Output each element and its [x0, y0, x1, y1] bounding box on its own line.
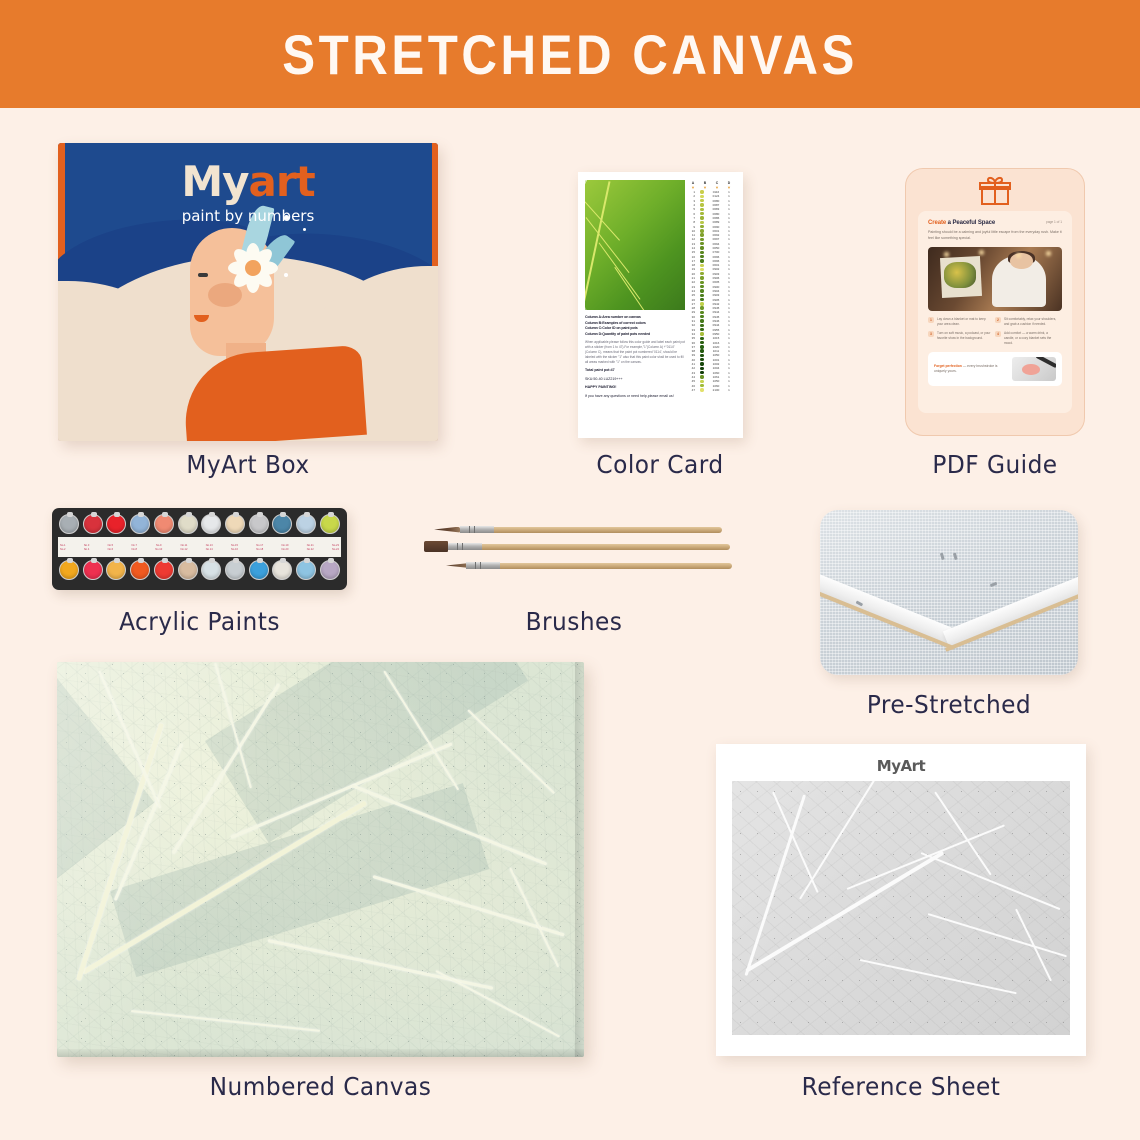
canvas-sheen [57, 662, 584, 1057]
pdf-footer-card: Forget perfection — every brushstroke is… [928, 352, 1062, 386]
paint-label: No.17 [256, 544, 263, 547]
caption-brushes: Brushes [435, 607, 714, 636]
product-acrylic-paints: No.1No.2No.3No.4No.5No.6No.7No.8No.9No.1… [52, 508, 347, 590]
paint-pot [178, 560, 198, 580]
color-card-happy: HAPPY PAINTING! [585, 385, 685, 391]
cell-color-swatch [697, 319, 707, 322]
paint-label: No.8 [131, 548, 136, 551]
canvas-bottom-edge [57, 1049, 584, 1057]
color-card-row: 4721001 [687, 388, 735, 392]
cell-color-swatch [697, 337, 707, 340]
cell-color-swatch [697, 380, 707, 383]
paint-pot [130, 560, 150, 580]
caption-reference-sheet: Reference Sheet [729, 1072, 1073, 1101]
paint-label-pair: No.15No.16 [231, 544, 238, 551]
tip-text: Lay down a blanket or mat to keep your a… [937, 317, 992, 327]
pdf-guide-image: page 1 of 1 Create a Peaceful Space Pain… [905, 168, 1085, 436]
logo-my-text: My [181, 157, 248, 206]
paint-pot [59, 514, 79, 534]
paint-label-pair: No.23No.24 [332, 544, 339, 551]
cell-quantity: 1 [725, 388, 733, 392]
brush-small-flat [446, 562, 732, 569]
myart-box-image: Myart paint by numbers [58, 143, 438, 441]
cell-color-swatch [697, 324, 707, 327]
logo-tagline: paint by numbers [58, 207, 438, 225]
paint-label-pair: No.9No.10 [155, 544, 162, 551]
paint-label: No.18 [256, 548, 263, 551]
paint-label: No.7 [131, 544, 136, 547]
caption-pdf-guide: PDF Guide [883, 450, 1106, 479]
tip-number: 1 [928, 317, 934, 323]
canvas-right-edge [575, 662, 584, 1057]
cell-color-id: 2100 [707, 388, 725, 392]
paint-pot [83, 560, 103, 580]
pdf-footer-text: Forget perfection — every brushstroke is… [934, 364, 1006, 375]
paint-label: No.20 [282, 548, 289, 551]
brush-handle [482, 544, 730, 550]
pdf-heading-accent: Create [928, 220, 946, 226]
cell-color-swatch [697, 345, 707, 348]
product-pdf-guide: page 1 of 1 Create a Peaceful Space Pain… [905, 168, 1085, 436]
paint-label-pair: No.3No.4 [84, 544, 89, 551]
cell-color-swatch [697, 315, 707, 318]
brush-handle [500, 563, 732, 569]
tip-number: 4 [995, 331, 1001, 337]
cell-color-swatch [697, 203, 707, 206]
pdf-heading-rest: a Peaceful Space [946, 220, 995, 226]
paint-pot-row-top [57, 514, 342, 534]
tip-text: Turn on soft music, a podcast, or your f… [937, 331, 992, 346]
product-myart-box: Myart paint by numbers [58, 143, 438, 441]
caption-acrylic-paints: Acrylic Paints [62, 607, 336, 636]
pdf-photo-woman-painting [928, 247, 1062, 311]
paint-label: No.9 [156, 544, 161, 547]
color-card-sku: SKU:50-40 LUZ219+++ [585, 377, 685, 383]
page-title: STRETCHED CANVAS [282, 22, 858, 87]
paint-tray: No.1No.2No.3No.4No.5No.6No.7No.8No.9No.1… [52, 508, 347, 590]
reference-speckles [732, 781, 1070, 1035]
reference-sheet-logo: MyArt [732, 757, 1070, 775]
cell-color-swatch [697, 242, 707, 245]
cell-color-swatch [697, 221, 707, 224]
pdf-tips-list: 1Lay down a blanket or mat to keep your … [928, 317, 1062, 351]
product-pre-stretched [820, 510, 1078, 675]
tip-text: Sit comfortably, relax your shoulders, a… [1004, 317, 1059, 327]
tip-text: Add comfort — a warm drink, a candle, or… [1004, 331, 1059, 346]
brush-tip-small [446, 563, 466, 568]
caption-pre-stretched: Pre-Stretched [829, 690, 1069, 719]
cell-color-swatch [697, 255, 707, 258]
pdf-tip-item: 2Sit comfortably, relax your shoulders, … [995, 317, 1062, 327]
page-header: STRETCHED CANVAS [0, 0, 1140, 108]
pdf-tip-item: 4Add comfort — a warm drink, a candle, o… [995, 331, 1062, 346]
cell-color-swatch [697, 375, 707, 378]
paint-pot [272, 560, 292, 580]
paint-pot [249, 514, 269, 534]
paint-label: No.16 [231, 548, 238, 551]
paint-pot [296, 514, 316, 534]
cell-color-swatch [697, 285, 707, 288]
paint-label: No.5 [108, 544, 113, 547]
color-card-legend: Column A:Area number on canvas Column B:… [585, 315, 685, 399]
product-color-card: Column A:Area number on canvas Column B:… [578, 172, 743, 438]
paint-pot [130, 514, 150, 534]
brush-ferrule [460, 526, 494, 532]
cell-color-swatch [697, 225, 707, 228]
paint-label: No.23 [332, 544, 339, 547]
color-card-image: Column A:Area number on canvas Column B:… [578, 172, 743, 438]
caption-numbered-canvas: Numbered Canvas [75, 1072, 565, 1101]
cell-color-swatch [697, 302, 707, 305]
paint-label-pair: No.17No.18 [256, 544, 263, 551]
cell-color-swatch [697, 195, 707, 198]
cell-color-swatch [697, 384, 707, 387]
cell-color-swatch [697, 199, 707, 202]
cell-color-swatch [697, 246, 707, 249]
eye [198, 273, 208, 277]
daisy-flower [226, 241, 280, 295]
brush-round [434, 526, 722, 533]
gift-icon [906, 175, 1084, 210]
paint-label: No.14 [206, 548, 213, 551]
paint-pot [106, 514, 126, 534]
brush-tip-flat [424, 541, 448, 552]
sparkle-dot [284, 273, 288, 277]
paint-label: No.19 [282, 544, 289, 547]
paint-label: No.24 [332, 548, 339, 551]
color-card-body-text: When applicable,please follow this color… [585, 340, 685, 365]
cell-color-swatch [697, 272, 707, 275]
paint-label: No.15 [231, 544, 238, 547]
cell-color-swatch [697, 367, 707, 370]
pdf-guide-page: page 1 of 1 Create a Peaceful Space Pain… [918, 211, 1072, 413]
paint-label-pair: No.5No.6 [108, 544, 113, 551]
paint-pot [320, 560, 340, 580]
tip-number: 2 [995, 317, 1001, 323]
cell-color-swatch [697, 354, 707, 357]
cell-color-swatch [697, 229, 707, 232]
paint-label: No.4 [84, 548, 89, 551]
paint-label: No.12 [181, 548, 188, 551]
product-reference-sheet: MyArt [716, 744, 1086, 1056]
paint-pot [249, 560, 269, 580]
cell-color-swatch [697, 332, 707, 335]
paint-label: No.3 [84, 544, 89, 547]
color-card-total: Total paint pot:47 [585, 368, 685, 374]
color-card-contact: If you have any questions or need help,p… [585, 394, 685, 400]
pre-stretched-image [820, 510, 1078, 675]
paint-label-pair: No.11No.12 [181, 544, 188, 551]
cell-color-swatch [697, 238, 707, 241]
paint-pot [59, 560, 79, 580]
caption-myart-box: MyArt Box [71, 450, 424, 479]
paint-label-pair: No.21No.22 [307, 544, 314, 551]
logo-art-text: art [249, 157, 315, 206]
cell-color-swatch [697, 358, 707, 361]
pdf-tip-item: 1Lay down a blanket or mat to keep your … [928, 317, 995, 327]
paint-pot [320, 514, 340, 534]
product-brushes [424, 524, 724, 586]
cell-color-swatch [697, 294, 707, 297]
cell-color-swatch [697, 208, 707, 211]
paint-label: No.21 [307, 544, 314, 547]
brush-ferrule [466, 562, 500, 568]
paint-pot [106, 560, 126, 580]
brush-flat [424, 543, 730, 550]
cell-color-swatch [697, 362, 707, 365]
paint-pot [201, 560, 221, 580]
paint-pot [178, 514, 198, 534]
paint-label: No.22 [307, 548, 314, 551]
pdf-tip-item: 3Turn on soft music, a podcast, or your … [928, 331, 995, 346]
reference-sheet-image: MyArt [716, 744, 1086, 1056]
pdf-heading: Create a Peaceful Space [928, 220, 1062, 226]
paint-pot-row-bottom [57, 560, 342, 580]
cell-color-swatch [697, 264, 707, 267]
paint-label-pair: No.1No.2 [60, 544, 65, 551]
paint-label-pair: No.7No.8 [131, 544, 136, 551]
numbered-canvas-image [57, 662, 584, 1057]
cell-color-swatch [697, 311, 707, 314]
reference-leaf-image [732, 781, 1070, 1035]
cell-color-swatch [697, 268, 707, 271]
cell-color-swatch [697, 233, 707, 236]
myart-logo: Myart paint by numbers [58, 157, 438, 225]
paint-pot [154, 560, 174, 580]
cell-color-swatch [697, 251, 707, 254]
brush-handle [494, 527, 722, 533]
pdf-footer-photo [1012, 357, 1056, 381]
paint-pot [225, 560, 245, 580]
cell-color-swatch [697, 388, 707, 391]
paint-label-pair: No.13No.14 [206, 544, 213, 551]
cell-color-swatch [697, 281, 707, 284]
paint-label: No.10 [155, 548, 162, 551]
brush-ferrule [448, 543, 482, 549]
cell-color-swatch [697, 298, 707, 301]
pdf-page-label: page 1 of 1 [1046, 220, 1062, 224]
cell-color-swatch [697, 349, 707, 352]
legend-line: Column D:Quantity of paint pots needed [585, 332, 685, 338]
pdf-body-text: Painting should be a calming and joyful … [928, 230, 1062, 242]
paint-pot [296, 560, 316, 580]
paint-label-strip: No.1No.2No.3No.4No.5No.6No.7No.8No.9No.1… [58, 537, 341, 557]
caption-color-card: Color Card [548, 450, 771, 479]
cell-color-swatch [697, 306, 707, 309]
cell-area-number: 47 [687, 388, 697, 392]
cell-color-swatch [697, 216, 707, 219]
paint-pot [225, 514, 245, 534]
cell-color-swatch [697, 371, 707, 374]
cell-color-swatch [697, 328, 707, 331]
paint-label: No.11 [181, 544, 188, 547]
cell-color-swatch [697, 212, 707, 215]
paint-label: No.6 [108, 548, 113, 551]
pdf-footer-accent: Forget perfection [934, 364, 962, 368]
paint-label-pair: No.19No.20 [282, 544, 289, 551]
sparkle-dot [303, 228, 306, 231]
paint-pot [201, 514, 221, 534]
paint-pot [272, 514, 292, 534]
paint-label: No.2 [60, 548, 65, 551]
product-numbered-canvas [57, 662, 584, 1057]
tip-number: 3 [928, 331, 934, 337]
daisy-center [245, 260, 261, 276]
cell-color-swatch [697, 190, 707, 193]
cell-color-swatch [697, 259, 707, 262]
paint-pot [83, 514, 103, 534]
cell-color-swatch [697, 289, 707, 292]
color-card-table: A B C D ▼▼▼▼ 101161201241306801406871506… [687, 181, 735, 392]
cell-color-swatch [697, 276, 707, 279]
paint-label: No.13 [206, 544, 213, 547]
cell-color-swatch [697, 341, 707, 344]
paint-pot [154, 514, 174, 534]
color-card-leaf-photo [585, 180, 685, 310]
brush-tip-round [434, 527, 460, 533]
paint-label: No.1 [60, 544, 65, 547]
